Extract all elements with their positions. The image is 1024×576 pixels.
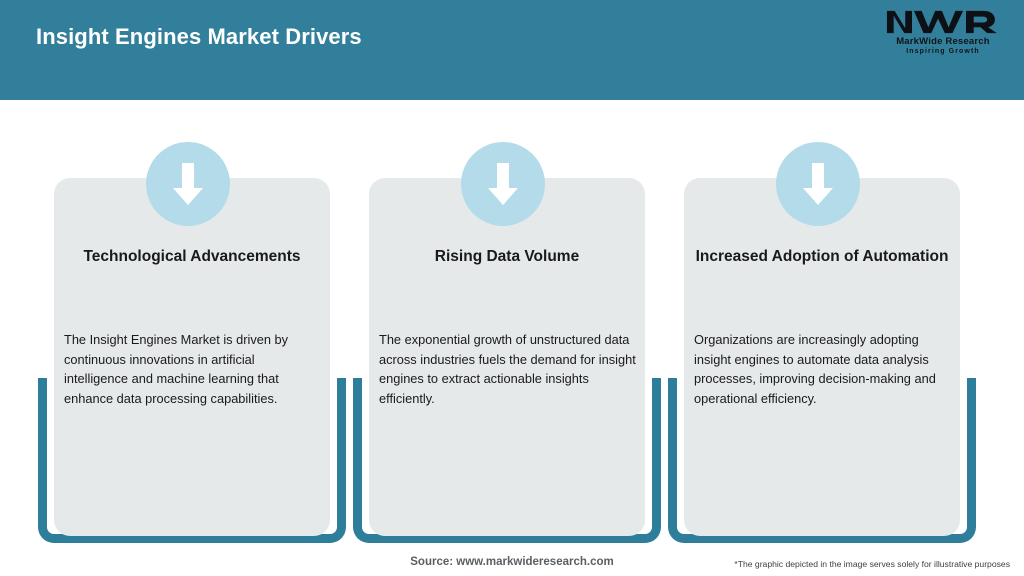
disclaimer-label: *The graphic depicted in the image serve… (734, 559, 1010, 569)
arrow-down-icon (146, 142, 230, 226)
arrow-down-icon (461, 142, 545, 226)
card-title: Rising Data Volume (371, 247, 643, 267)
card-body: Organizations are increasingly adopting … (694, 330, 952, 408)
slide-root: Insight Engines Market Drivers MarkWide … (0, 0, 1024, 576)
arrow-down-icon (776, 142, 860, 226)
card-title: Technological Advancements (56, 247, 328, 267)
driver-card-2[interactable]: Rising Data Volume The exponential growt… (353, 0, 653, 576)
card-title: Increased Adoption of Automation (686, 247, 958, 267)
card-body: The exponential growth of unstructured d… (379, 330, 637, 408)
driver-card-1[interactable]: Technological Advancements The Insight E… (38, 0, 338, 576)
card-body: The Insight Engines Market is driven by … (64, 330, 322, 408)
driver-card-3[interactable]: Increased Adoption of Automation Organiz… (668, 0, 968, 576)
